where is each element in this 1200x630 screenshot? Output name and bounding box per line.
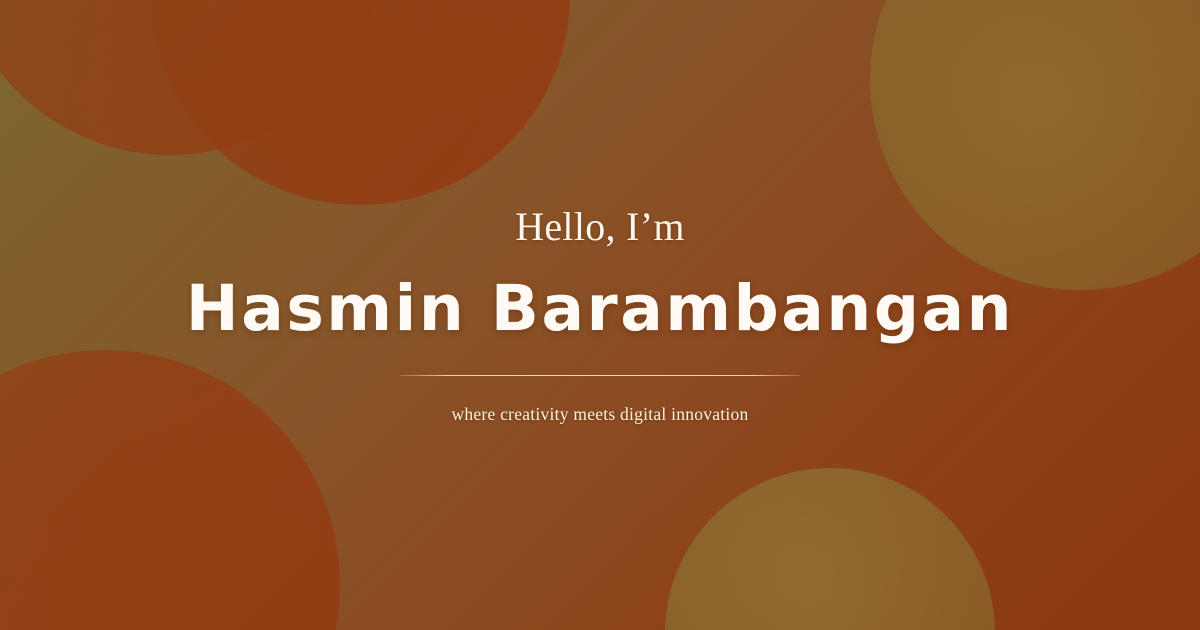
greeting-eyebrow: Hello, I’m (515, 207, 685, 247)
page-title: Hasmin Barambangan (186, 276, 1014, 342)
tagline-text: where creativity meets digital innovatio… (452, 406, 749, 424)
hero-banner: Hello, I’m Hasmin Barambangan where crea… (0, 0, 1200, 630)
title-divider (400, 375, 800, 376)
banner-content: Hello, I’m Hasmin Barambangan where crea… (0, 0, 1200, 630)
